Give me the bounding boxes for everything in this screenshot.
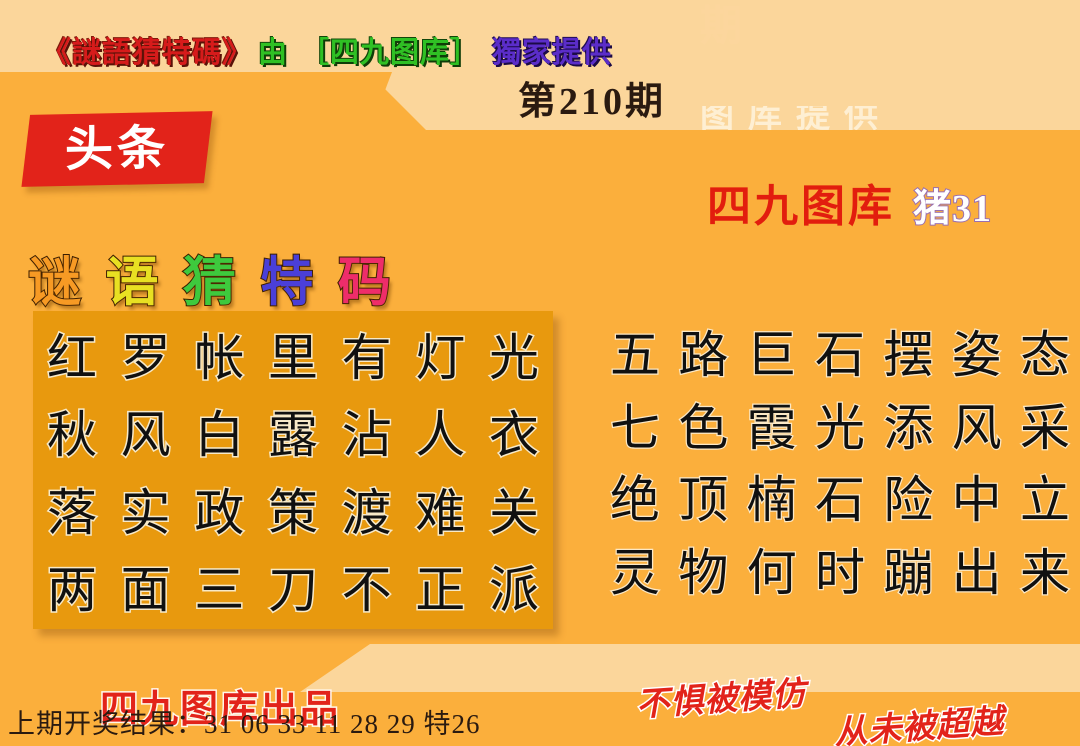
issue-number: 第210期 <box>518 70 666 125</box>
poem-char: 沾 <box>342 410 392 460</box>
poem-char: 巨 <box>747 330 797 380</box>
poem-char: 中 <box>952 475 1002 525</box>
poem-char: 三 <box>194 565 244 615</box>
poem-char: 策 <box>268 488 318 538</box>
poem-char: 光 <box>489 333 539 383</box>
poem-char: 人 <box>415 410 465 460</box>
poem-char: 姿 <box>952 330 1002 380</box>
previous-draw-result: 上期开奖结果：31 06 33 11 28 29 特26 <box>8 702 481 741</box>
poem-char: 落 <box>47 488 97 538</box>
rainbow-char-3: 特 <box>260 240 316 316</box>
right-poem-line: 七 色 霞 光 添 风 采 <box>610 403 1070 453</box>
header-title-main: 《謎語猜特碼》 <box>42 29 252 71</box>
poster-canvas: 期 图库提供 《謎語猜特碼》 由 ［四九图库］ 獨家提供 第210期 头条 谜 … <box>0 0 1080 746</box>
left-poem-box: 红 罗 帐 里 有 灯 光 秋 风 白 露 沾 人 衣 落 实 政 策 渡 难 … <box>33 311 553 629</box>
poem-char: 来 <box>1020 548 1070 598</box>
poem-char: 关 <box>489 488 539 538</box>
poem-char: 五 <box>610 330 660 380</box>
poem-char: 险 <box>883 475 933 525</box>
poem-char: 七 <box>610 403 660 453</box>
ghost-watermark-top: 期 <box>700 0 820 38</box>
right-poem-line: 绝 顶 楠 石 险 中 立 <box>610 475 1070 525</box>
poem-char: 何 <box>747 548 797 598</box>
poem-char: 渡 <box>342 488 392 538</box>
poem-char: 添 <box>883 403 933 453</box>
poem-char: 色 <box>678 403 728 453</box>
rainbow-char-2: 猜 <box>183 240 239 316</box>
poem-char: 政 <box>194 488 244 538</box>
poem-char: 风 <box>952 403 1002 453</box>
poem-char: 面 <box>121 565 171 615</box>
poem-char: 派 <box>489 565 539 615</box>
poem-char: 红 <box>47 333 97 383</box>
headline-badge-label: 头条 <box>64 124 169 174</box>
poem-char: 摆 <box>883 330 933 380</box>
poem-char: 两 <box>47 565 97 615</box>
poem-char: 里 <box>268 333 318 383</box>
poem-char: 物 <box>678 548 728 598</box>
poem-char: 帐 <box>194 333 244 383</box>
poem-char: 路 <box>678 330 728 380</box>
poem-char: 立 <box>1020 475 1070 525</box>
poem-char: 露 <box>268 410 318 460</box>
poem-char: 正 <box>415 565 465 615</box>
poem-char: 态 <box>1020 330 1070 380</box>
poem-char: 实 <box>121 488 171 538</box>
rainbow-char-4: 码 <box>338 240 394 316</box>
poem-char: 罗 <box>121 333 171 383</box>
header-title-by: 由 <box>258 29 288 71</box>
poem-char: 出 <box>952 548 1002 598</box>
poem-char: 时 <box>815 548 865 598</box>
ghost-watermark-row: 图库提供 <box>700 106 1080 130</box>
right-poem-line: 五 路 巨 石 摆 姿 态 <box>610 330 1070 380</box>
header-title-line: 《謎語猜特碼》 由 ［四九图库］ 獨家提供 <box>42 30 612 70</box>
poem-char: 霞 <box>747 403 797 453</box>
poem-char: 光 <box>815 403 865 453</box>
right-poem-block: 五 路 巨 石 摆 姿 态 七 色 霞 光 添 风 采 绝 顶 楠 石 险 中 … <box>610 330 1070 598</box>
header-title-brand: ［四九图库］ <box>300 29 480 71</box>
poem-char: 采 <box>1020 403 1070 453</box>
ghost-watermark-row-text: 图库提供 <box>700 106 892 130</box>
poem-char: 灵 <box>610 548 660 598</box>
left-poem-line: 秋 风 白 露 沾 人 衣 <box>47 410 539 460</box>
rainbow-title: 谜 语 猜 特 码 <box>28 240 394 316</box>
poem-char: 刀 <box>268 565 318 615</box>
left-poem-line: 落 实 政 策 渡 难 关 <box>47 488 539 538</box>
poem-char: 灯 <box>415 333 465 383</box>
poem-char: 白 <box>194 410 244 460</box>
rainbow-char-1: 语 <box>105 240 161 316</box>
poem-char: 绝 <box>610 475 660 525</box>
right-poem-line: 灵 物 何 时 蹦 出 来 <box>610 548 1070 598</box>
header-title-exclusive: 獨家提供 <box>492 29 612 71</box>
poem-char: 衣 <box>489 410 539 460</box>
right-brand-row: 四九图库 猪31 <box>707 170 992 234</box>
left-poem-line: 两 面 三 刀 不 正 派 <box>47 565 539 615</box>
headline-badge: 头条 <box>21 111 212 187</box>
poem-char: 秋 <box>47 410 97 460</box>
right-zodiac-label: 猪31 <box>913 177 992 232</box>
poem-char: 难 <box>415 488 465 538</box>
poem-char: 顶 <box>678 475 728 525</box>
left-poem-line: 红 罗 帐 里 有 灯 光 <box>47 333 539 383</box>
rainbow-char-0: 谜 <box>28 240 84 316</box>
poem-char: 楠 <box>747 475 797 525</box>
poem-char: 石 <box>815 475 865 525</box>
poem-char: 蹦 <box>883 548 933 598</box>
right-brand-name: 四九图库 <box>707 170 895 234</box>
poem-char: 不 <box>342 565 392 615</box>
poem-char: 有 <box>342 333 392 383</box>
poem-char: 石 <box>815 330 865 380</box>
poem-char: 风 <box>121 410 171 460</box>
